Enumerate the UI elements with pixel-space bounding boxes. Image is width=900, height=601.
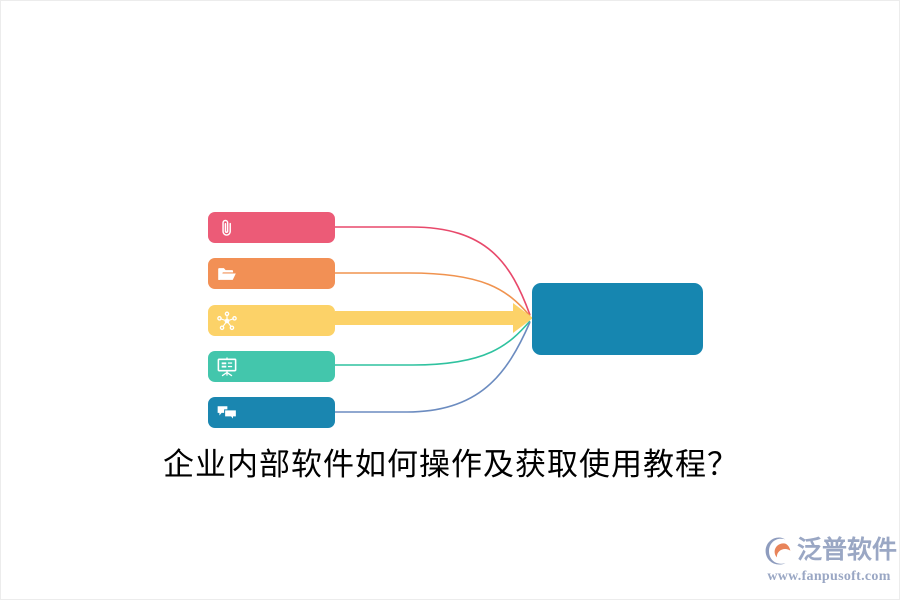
- logo-brand-text: 泛普软件: [797, 535, 897, 567]
- source-node-2[interactable]: [208, 258, 335, 289]
- presentation-icon: [216, 356, 238, 378]
- network-hub-icon: [216, 310, 238, 332]
- source-node-1[interactable]: [208, 212, 335, 243]
- connector-line-5: [335, 322, 530, 412]
- connector-layer: [1, 1, 900, 601]
- target-node[interactable]: [532, 283, 703, 355]
- paperclip-icon: [216, 217, 238, 239]
- source-node-5[interactable]: [208, 397, 335, 428]
- fanpu-circle-logo-icon: [763, 535, 795, 567]
- logo-url-text: www.fanpusoft.com: [763, 569, 895, 585]
- watermark-logo: 泛普软件 www.fanpusoft.com: [763, 534, 895, 592]
- caption-title: 企业内部软件如何操作及获取使用教程？: [1, 439, 900, 484]
- connector-line-4: [335, 321, 530, 365]
- flow-diagram: [1, 1, 900, 601]
- open-folder-icon: [216, 263, 238, 285]
- diagram-canvas: 企业内部软件如何操作及获取使用教程？ 泛普软件 www.fanpusoft.co…: [0, 0, 900, 600]
- source-node-4[interactable]: [208, 351, 335, 382]
- source-node-3[interactable]: [208, 305, 335, 336]
- connector-line-1: [335, 227, 530, 315]
- logo-row: 泛普软件: [763, 534, 895, 568]
- connector-line-2: [335, 273, 530, 316]
- chat-bubbles-icon: [216, 402, 238, 424]
- connector-arrow-3: [335, 303, 533, 333]
